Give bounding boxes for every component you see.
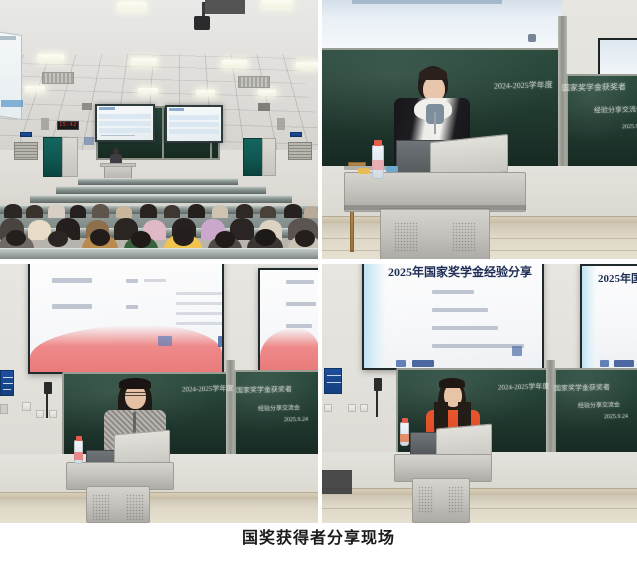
slide-title-partial: 2025年国家奖学金经验分享 (598, 270, 637, 286)
door-right[interactable] (243, 138, 263, 176)
ceiling-light (118, 2, 146, 11)
ceiling-light (258, 90, 276, 96)
glasses (125, 392, 146, 396)
phone-cord (376, 391, 378, 417)
sign-text-line (3, 383, 13, 384)
outlet[interactable] (324, 404, 332, 412)
bottle-cap (402, 418, 408, 423)
student-head (90, 229, 110, 246)
student-head (131, 231, 151, 248)
speaker-hair-front (419, 68, 447, 80)
slide-text-line (176, 292, 222, 295)
photo-top-right[interactable]: 2024-2025学年度 国家奖学金获奖者 经验分享交流会 2025.9.24 (322, 0, 637, 259)
bottle-label (400, 434, 409, 442)
foreground-desk (0, 248, 318, 259)
projection-screen-main (28, 264, 224, 374)
student-head (215, 231, 235, 248)
ceiling-light (138, 88, 158, 94)
slide-bullet (432, 326, 498, 330)
outlet[interactable] (360, 404, 368, 412)
wall-poster (84, 137, 94, 145)
photo-bottom-right[interactable]: 2025年国家奖学金经验分享 2025年国家奖学金经验分享 2024-20 (322, 264, 637, 523)
podium-vent-right (126, 494, 144, 520)
chalk-line-3: 经验分享交流会 (594, 104, 637, 115)
floor (0, 499, 318, 523)
wall-sign-right (290, 132, 302, 137)
desk-item (358, 168, 370, 174)
slide-footer-mark (396, 360, 406, 367)
figure-caption: 国奖获得者分享现场 (0, 527, 637, 551)
student (116, 206, 132, 218)
wall-grille-left (14, 142, 38, 160)
led-clock: 15:42 (57, 121, 79, 130)
ceiling-vent (238, 76, 270, 88)
slide-accent (158, 336, 172, 346)
chalk-line-2: 国家奖学金获奖者 (236, 384, 292, 395)
chalk-line-1: 2024-2025学年度 (494, 79, 553, 91)
desk-row (56, 186, 266, 194)
photo-bottom-left[interactable]: 2024-2025学年度 国家奖学金获奖者 经验分享交流会 2025.9.24 (0, 264, 318, 523)
bottle-label (372, 160, 384, 170)
student-head (295, 230, 315, 247)
podium-vent-left (394, 222, 418, 252)
desk-row (30, 195, 292, 203)
slide-text-line (52, 278, 92, 283)
slide-block (99, 121, 151, 126)
slide-text-line (126, 305, 138, 309)
chalk-line-1: 2024-2025学年度 (498, 381, 550, 392)
ceiling-light (262, 0, 292, 8)
slide-text-line (144, 279, 166, 282)
sign-text-line (327, 382, 341, 383)
wall-phone[interactable] (374, 378, 382, 391)
slide-content-band (352, 0, 502, 4)
projection-screen-side (258, 268, 318, 372)
podium-shadow (344, 205, 526, 210)
slide-text-line (176, 312, 224, 315)
chalk-line-3: 经验分享交流会 (258, 403, 300, 413)
desk-row (78, 178, 238, 185)
bottle-cap (374, 140, 382, 146)
chalk-line-1: 2024-2025学年度 (182, 383, 234, 394)
slide-text-line (286, 280, 314, 284)
desk-item-blue (386, 166, 398, 172)
sign-text-line (327, 375, 341, 376)
floor-tile-line (322, 508, 637, 509)
figure-container: 15:42 (0, 0, 637, 563)
ceiling-light (222, 60, 247, 68)
wall-sign (324, 368, 342, 394)
student-head (255, 229, 276, 246)
wall-grille-right (288, 142, 312, 160)
slide-footer-mark (600, 360, 609, 367)
slide-accent (218, 336, 224, 347)
slide-blue-accent (364, 264, 386, 368)
ceiling-light (196, 90, 215, 96)
projection-screen-main: 2025年国家奖学金经验分享 (362, 264, 544, 370)
slide-red-wave (260, 328, 318, 370)
slide-red-wave (30, 325, 222, 372)
wall-fixture (0, 404, 8, 414)
outlet[interactable] (36, 410, 44, 418)
slide-block (99, 128, 151, 133)
ceiling-vent (42, 72, 74, 84)
projection-screen-side (598, 38, 637, 76)
ceiling-light (296, 62, 318, 69)
slide-bullet (432, 308, 488, 312)
slide-footer-mark (614, 360, 634, 367)
slide-bullet (432, 344, 524, 348)
projector (194, 16, 210, 30)
chalk-line-2: 国家奖学金获奖者 (554, 382, 610, 393)
chalkboard-right (554, 368, 637, 456)
student (140, 204, 157, 218)
slide-line (101, 135, 135, 136)
ceiling-light (38, 54, 64, 62)
slide-block (169, 122, 219, 127)
slide-text-line (176, 322, 224, 325)
podium-vent-right (452, 222, 476, 252)
slide-header (169, 108, 184, 111)
door-panel-right (262, 138, 276, 176)
student-head (6, 230, 26, 246)
student-head (48, 231, 68, 247)
bottle-cap (76, 436, 82, 441)
speaker-box-right (277, 118, 285, 130)
outlet[interactable] (49, 410, 57, 418)
door-panel-left (62, 137, 78, 177)
slide-footer-mark (412, 360, 434, 367)
chalk-line-4: 2025.9.24 (622, 124, 637, 131)
floor (322, 495, 637, 523)
slide-icon (512, 346, 522, 356)
phone-cord (46, 394, 48, 418)
bottle-label (74, 452, 83, 460)
chalk-line-2: 国家奖学金获奖者 (562, 81, 626, 93)
student (260, 206, 276, 218)
student (212, 205, 228, 218)
slide-bullet (432, 290, 474, 294)
chalk-line-4: 2025.9.24 (284, 417, 308, 424)
slide-blue-accent (582, 266, 596, 368)
sign-text-line (3, 377, 13, 378)
slide-icon (528, 34, 536, 42)
student (92, 204, 109, 218)
photo-grid: 15:42 (0, 0, 637, 523)
podium-vent-left (92, 494, 110, 520)
student (236, 204, 253, 218)
projector-stand-left (82, 103, 92, 110)
wall-sign-left (20, 132, 32, 137)
side-screen-logo (0, 36, 16, 40)
slide-block (169, 129, 219, 134)
slide-block (169, 115, 219, 120)
slide-text-line (176, 302, 224, 305)
chalk-line-3: 经验分享交流会 (578, 400, 620, 410)
student (4, 204, 22, 218)
equipment-cart (322, 470, 352, 494)
chalk-line-4: 2025.9.24 (604, 414, 628, 421)
student (70, 205, 86, 218)
student (188, 204, 205, 218)
podium-base (100, 163, 136, 167)
outlet[interactable] (348, 404, 356, 412)
speaker-box-left (41, 118, 49, 130)
ceiling-light (25, 86, 45, 92)
wall-sign (0, 370, 14, 396)
side-screen-icons (1, 100, 23, 107)
sign-text-line (3, 389, 11, 390)
ceiling-light (131, 58, 157, 66)
student (284, 204, 302, 218)
slide-text-line (52, 304, 92, 309)
slide-text-line (286, 302, 316, 306)
slide-header (99, 107, 115, 110)
projector-stand-right (258, 103, 270, 111)
student (304, 206, 318, 218)
chalkboard-right (234, 370, 318, 458)
projection-screen (322, 0, 562, 50)
podium-vent-left (418, 486, 434, 514)
podium-vent-right (448, 486, 464, 514)
slide-title: 2025年国家奖学金经验分享 (388, 264, 532, 280)
speaker-hair-front (119, 378, 151, 389)
slide-text-line (286, 324, 312, 328)
lanyard (434, 112, 436, 134)
student (164, 205, 180, 218)
wall-phone[interactable] (44, 382, 52, 394)
light-switch[interactable] (22, 402, 31, 411)
photo-top-left[interactable]: 15:42 (0, 0, 318, 259)
slide-text-line (126, 279, 138, 283)
student-head (173, 229, 194, 246)
speaker-hair-front (439, 378, 465, 388)
ceiling-dark-patch (205, 0, 245, 14)
projection-screen-side: 2025年国家奖学金经验分享 (580, 264, 637, 370)
slide-block (99, 114, 151, 119)
clock-digits: 15:42 (58, 122, 78, 129)
student (48, 204, 65, 218)
student (26, 205, 43, 218)
